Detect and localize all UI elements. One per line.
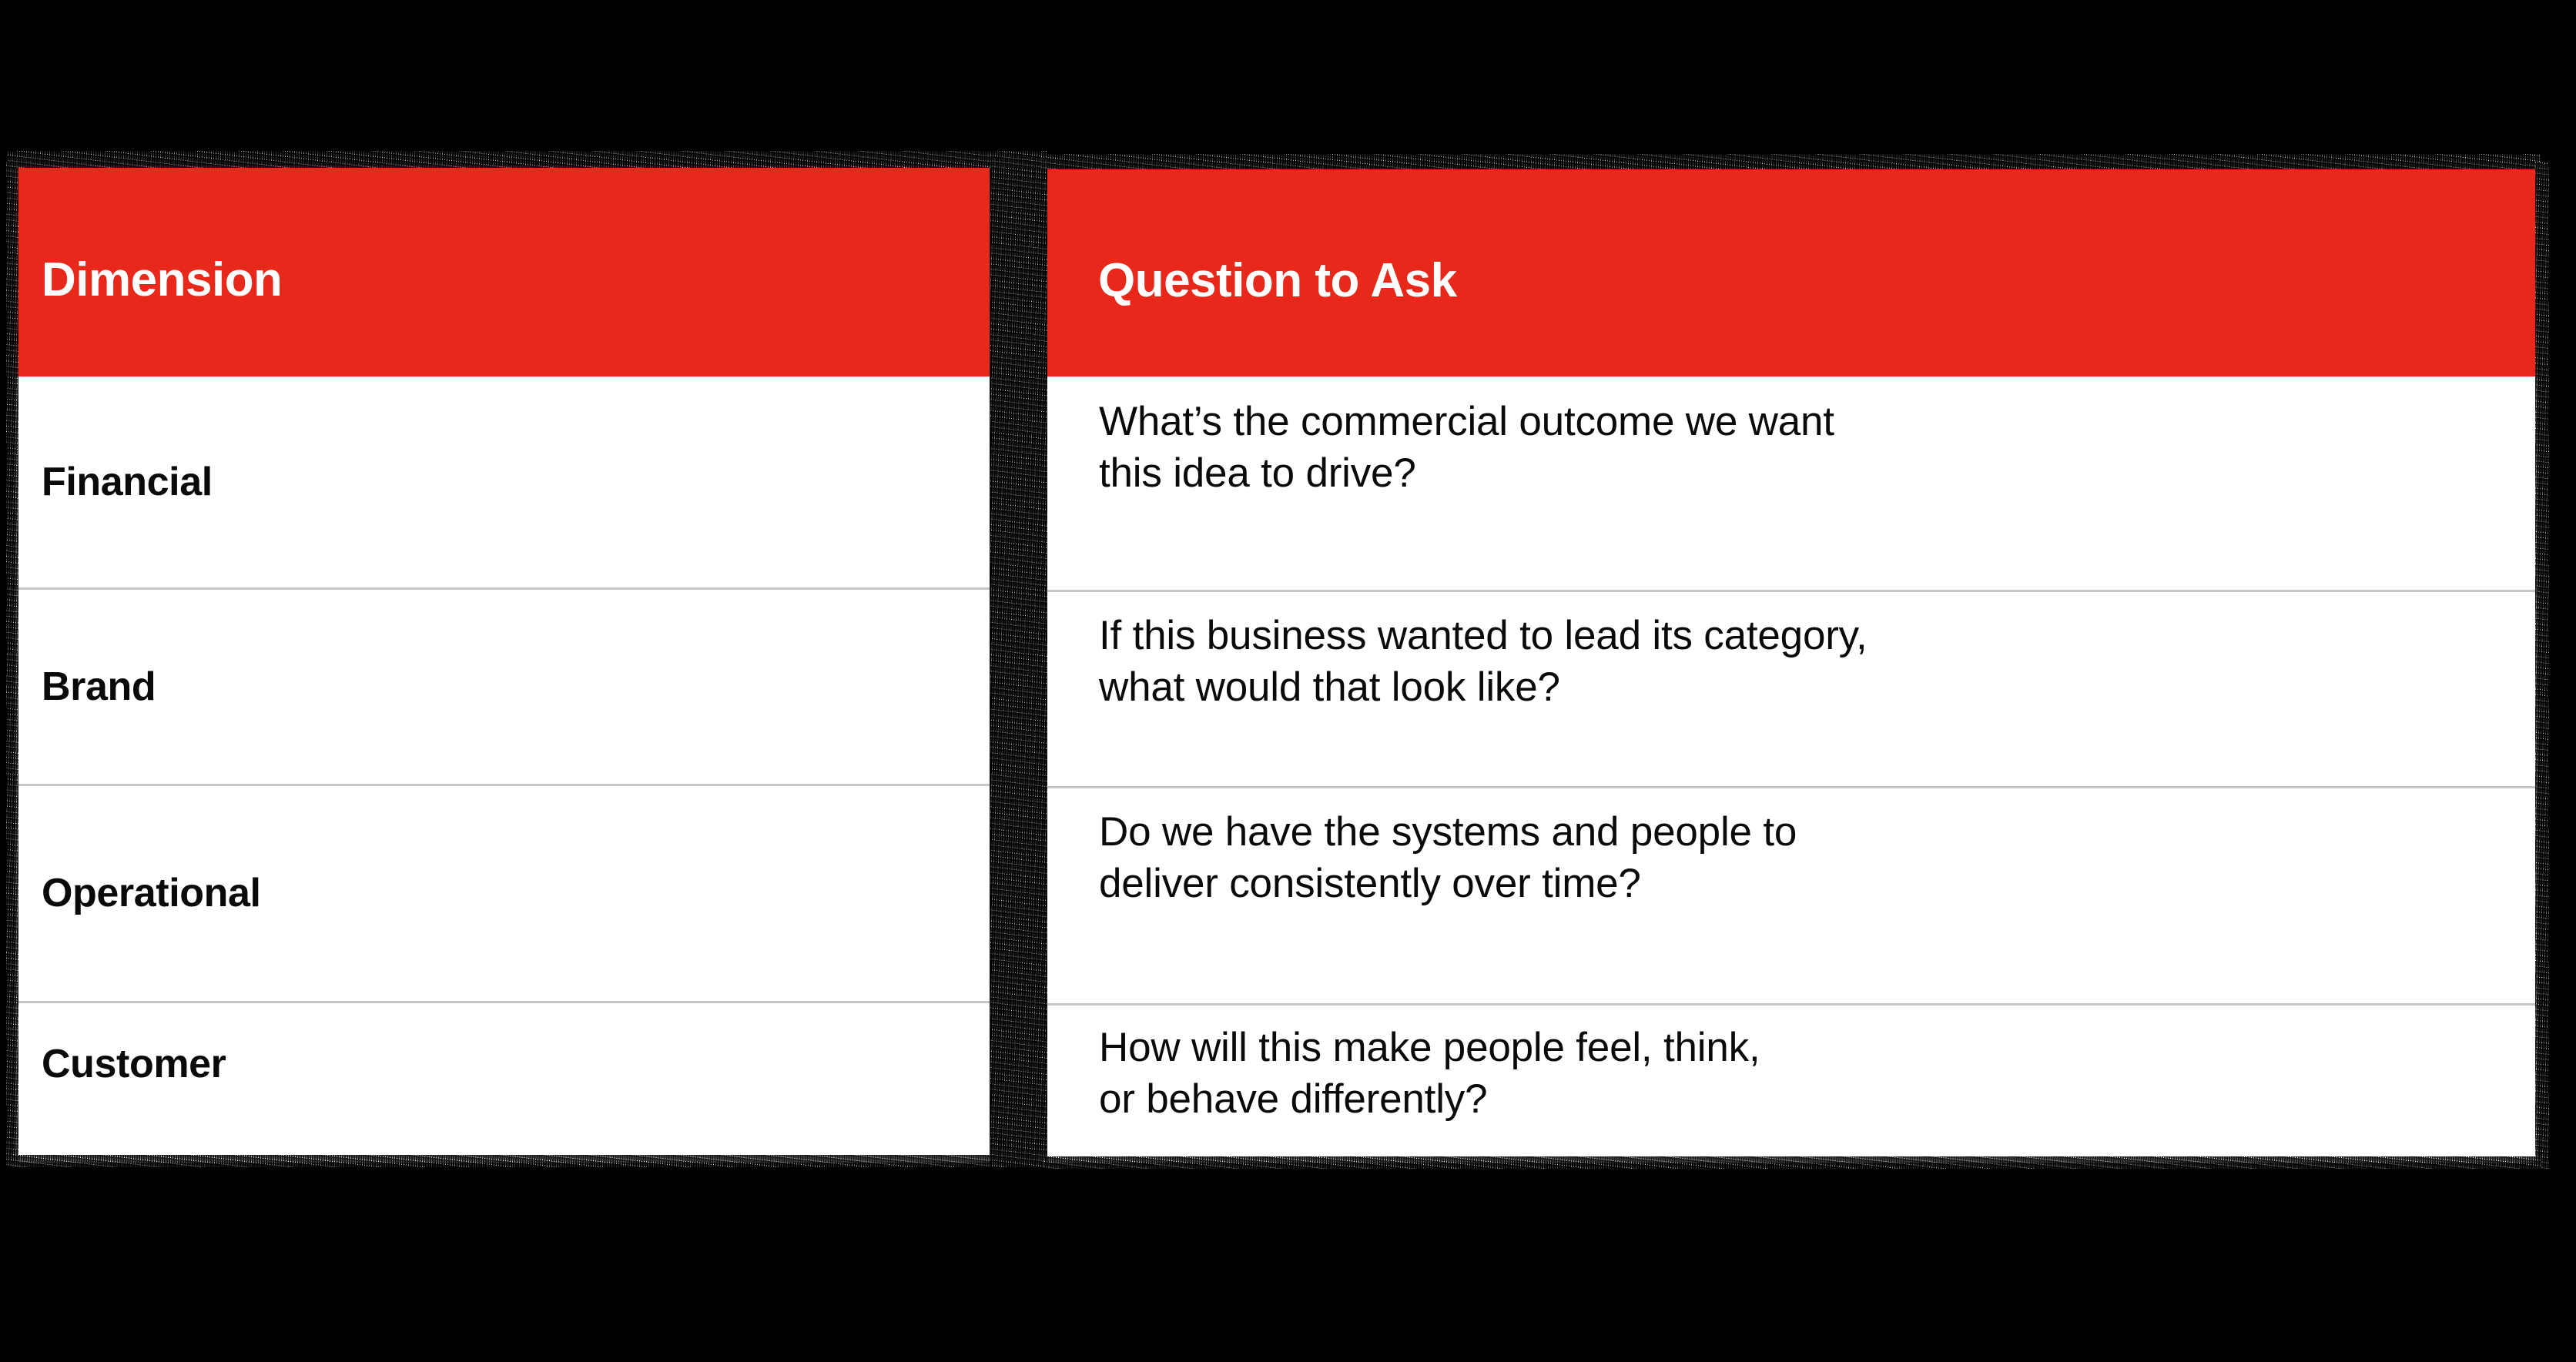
torn-edge-right-top	[1041, 154, 2541, 169]
dimension-label-customer: Customer	[42, 1043, 226, 1086]
question-line: deliver consistently over time?	[1099, 858, 1797, 910]
dimension-rows: Financial Brand Operational Customer	[15, 376, 990, 1163]
column-seam-texture	[990, 151, 1047, 1167]
question-text-brand: If this business wanted to lead its cate…	[1099, 611, 1868, 714]
question-text-customer: How will this make people feel, think, o…	[1099, 1022, 1760, 1126]
table-row: Customer	[15, 1001, 990, 1163]
dimension-label-financial: Financial	[42, 461, 213, 504]
dimension-header-band: Dimension	[15, 166, 990, 376]
question-text-financial: What’s the commercial outcome we want th…	[1099, 397, 1834, 500]
table-row: If this business wanted to lead its cate…	[1047, 590, 2537, 786]
question-line: What’s the commercial outcome we want	[1099, 397, 1834, 448]
column-header-question-to-ask: Question to Ask	[1098, 257, 1457, 305]
question-line: or behave differently?	[1099, 1074, 1760, 1126]
dimension-label-operational: Operational	[42, 872, 261, 915]
table-row: Operational	[15, 784, 990, 1001]
question-header-band: Question to Ask	[1047, 168, 2537, 376]
question-text-operational: Do we have the systems and people to del…	[1099, 807, 1797, 910]
dimension-column-panel: Dimension Financial Brand Operational Cu…	[15, 166, 990, 1163]
question-line: How will this make people feel, think,	[1099, 1022, 1760, 1074]
table-row: How will this make people feel, think, o…	[1047, 1003, 2537, 1163]
column-header-dimension: Dimension	[42, 256, 282, 304]
table-row: What’s the commercial outcome we want th…	[1047, 376, 2537, 590]
question-line: If this business wanted to lead its cate…	[1099, 611, 1868, 662]
table-row: Financial	[15, 376, 990, 587]
slide-canvas: Dimension Financial Brand Operational Cu…	[0, 0, 2576, 1362]
question-line: Do we have the systems and people to	[1099, 807, 1797, 858]
question-line: what would that look like?	[1099, 662, 1868, 714]
question-rows: What’s the commercial outcome we want th…	[1047, 376, 2537, 1163]
table-row: Do we have the systems and people to del…	[1047, 786, 2537, 1003]
question-line: this idea to drive?	[1099, 448, 1834, 500]
question-column-panel: Question to Ask What’s the commercial ou…	[1047, 168, 2537, 1163]
table-row: Brand	[15, 587, 990, 784]
dimension-label-brand: Brand	[42, 666, 156, 708]
